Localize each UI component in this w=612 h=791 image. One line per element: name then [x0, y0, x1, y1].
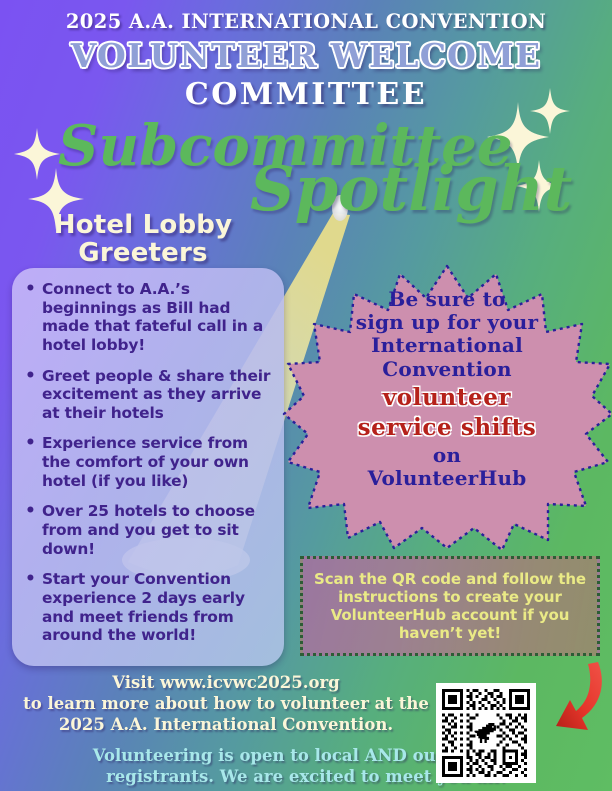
starburst-text: Be sure to sign up for your Internationa… [324, 288, 570, 490]
benefits-card: Connect to A.A.’s beginnings as Bill had… [12, 268, 284, 666]
footer-line-visit: Visit www.icvwc2025.org [112, 673, 339, 692]
list-item: Connect to A.A.’s beginnings as Bill had… [22, 280, 272, 355]
starburst-line3: International [371, 333, 523, 357]
benefits-list: Connect to A.A.’s beginnings as Bill had… [22, 280, 272, 645]
subcommittee-name: Hotel Lobby Greeters [18, 212, 268, 267]
starburst-line6: VolunteerHub [368, 466, 527, 490]
starburst-highlight2: service shifts [324, 415, 570, 442]
poster-root: 2025 A.A. INTERNATIONAL CONVENTION VOLUN… [0, 0, 612, 791]
script-title-spotlight: Spotlight [250, 152, 572, 225]
subcommittee-name-line1: Hotel Lobby [18, 212, 268, 240]
qr-instruction-text: Scan the QR code and follow the instruct… [311, 570, 589, 642]
subcommittee-name-line2: Greeters [18, 240, 268, 268]
starburst-highlight1: volunteer [324, 385, 570, 412]
list-item: Experience service from the comfort of y… [22, 434, 272, 490]
list-item: Greet people & share their excitement as… [22, 367, 272, 423]
starburst-line1: Be sure to [388, 287, 505, 311]
footer-line-learn: to learn more about how to volunteer at … [23, 694, 429, 713]
starburst-line4: Convention [382, 357, 511, 381]
header: 2025 A.A. INTERNATIONAL CONVENTION VOLUN… [0, 10, 612, 112]
qr-code[interactable] [436, 683, 536, 783]
list-item: Over 25 hotels to choose from and you ge… [22, 502, 272, 558]
header-eyebrow: 2025 A.A. INTERNATIONAL CONVENTION [0, 10, 612, 33]
header-title-committee: COMMITTEE [0, 77, 612, 112]
signup-starburst-badge: Be sure to sign up for your Internationa… [282, 262, 612, 550]
dinosaur-icon [473, 722, 499, 744]
header-title-volunteer-welcome: VOLUNTEER WELCOME [0, 36, 612, 75]
arrow-icon [536, 660, 610, 744]
starburst-line2: sign up for your [356, 310, 539, 334]
starburst-line5: on [433, 443, 461, 467]
footer-line-convention: 2025 A.A. International Convention. [59, 715, 393, 734]
qr-instruction-box: Scan the QR code and follow the instruct… [300, 556, 600, 656]
list-item: Start your Convention experience 2 days … [22, 570, 272, 645]
sparkle-icon [14, 128, 60, 180]
